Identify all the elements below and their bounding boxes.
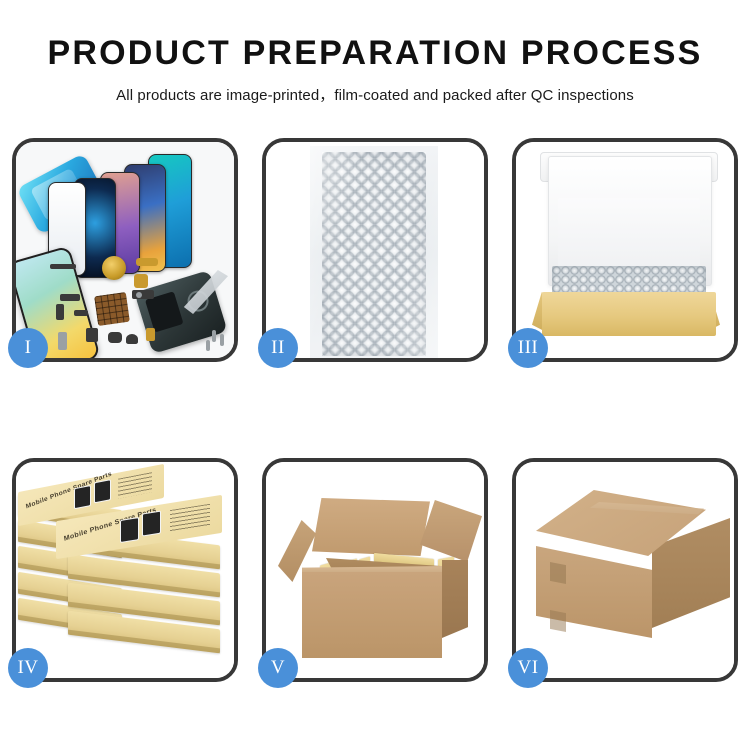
foam-liner: [558, 198, 700, 268]
step-6-image: [516, 462, 734, 678]
step-badge-5: V: [258, 648, 298, 688]
process-step-grid: I II III: [12, 138, 738, 682]
step-3-image: [516, 142, 734, 358]
step-4-image: Mobile Phone Spare Parts Mobile Phone Sp…: [16, 462, 234, 678]
carton-seam-tab-upper: [550, 562, 566, 584]
page-header: PRODUCT PREPARATION PROCESS All products…: [0, 0, 750, 105]
stacked-retail-boxes: Mobile Phone Spare Parts Mobile Phone Sp…: [16, 466, 234, 678]
carton-side: [442, 560, 468, 638]
step-badge-1: I: [8, 328, 48, 368]
spare-parts-cluster: [16, 142, 234, 358]
process-step-panel-4[interactable]: Mobile Phone Spare Parts Mobile Phone Sp…: [12, 458, 238, 682]
kraft-box-tray: [542, 292, 716, 336]
page-subtitle: All products are image-printed，film-coat…: [0, 84, 750, 105]
process-step-panel-3[interactable]: III: [512, 138, 738, 362]
carton-body: [302, 572, 442, 658]
process-step-panel-5[interactable]: V: [262, 458, 488, 682]
step-badge-3: III: [508, 328, 548, 368]
step-1-image: [16, 142, 234, 358]
step-badge-4: IV: [8, 648, 48, 688]
step-2-image: [266, 142, 484, 358]
carton-seam-tab-lower: [550, 610, 566, 632]
step-5-image: [266, 462, 484, 678]
process-step-panel-1[interactable]: I: [12, 138, 238, 362]
process-step-panel-6[interactable]: VI: [512, 458, 738, 682]
bubble-wrap-texture: [322, 152, 426, 356]
page-title: PRODUCT PREPARATION PROCESS: [0, 36, 750, 72]
step-badge-2: II: [258, 328, 298, 368]
process-step-panel-2[interactable]: II: [262, 138, 488, 362]
step-badge-6: VI: [508, 648, 548, 688]
